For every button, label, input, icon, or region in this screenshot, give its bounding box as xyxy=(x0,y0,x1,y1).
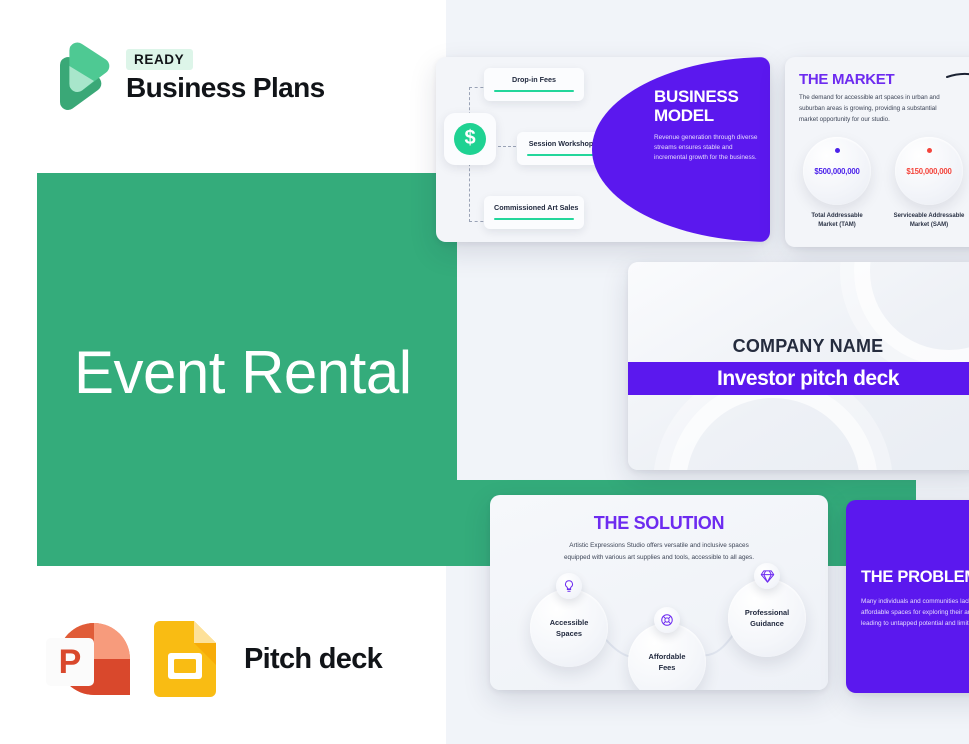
slide-cover[interactable]: COMPANY NAME Investor pitch deck xyxy=(628,262,969,470)
revenue-chip-drop-in-fees[interactable]: Drop-in Fees xyxy=(484,68,584,101)
label-line-2: Spaces xyxy=(556,629,582,638)
lightbulb-icon xyxy=(556,573,582,599)
revenue-chip-label: Commissioned Art Sales xyxy=(494,203,574,212)
ready-badge: READY xyxy=(126,49,193,70)
business-model-panel: BUSINESS MODEL Revenue generation throug… xyxy=(592,57,770,242)
chip-underline xyxy=(494,90,574,92)
caption-line-1: Serviceable Addressable xyxy=(881,212,969,221)
curved-arrow-icon xyxy=(945,71,969,113)
metric-dot xyxy=(835,148,840,153)
brand-lockup: READY Business Plans xyxy=(40,40,325,112)
revenue-chip-label: Drop-in Fees xyxy=(494,75,574,84)
caption-line-2: Market (TAM) xyxy=(789,221,885,230)
brand-name: Business Plans xyxy=(126,73,325,104)
slide-title-line-1: BUSINESS xyxy=(654,87,764,106)
file-formats-row: P Pitch deck xyxy=(44,620,382,698)
solution-node-professional-guidance: Professional Guidance xyxy=(728,579,806,657)
chip-underline xyxy=(527,154,599,156)
page-title: Event Rental xyxy=(74,341,412,404)
slide-title: THE MARKET xyxy=(799,71,894,88)
money-tile: $ xyxy=(444,113,496,165)
chip-underline xyxy=(494,218,574,220)
dollar-sign-icon: $ xyxy=(454,123,486,155)
revenue-chip-label: Session Workshops xyxy=(527,139,599,148)
label-line-2: Guidance xyxy=(750,619,784,628)
slide-title-line-2: MODEL xyxy=(654,106,764,125)
cover-title-band: Investor pitch deck xyxy=(628,362,969,395)
caption-line-2: Market (SAM) xyxy=(881,221,969,230)
slide-the-solution[interactable]: THE SOLUTION Artistic Expressions Studio… xyxy=(490,495,828,690)
label-line-1: Accessible xyxy=(550,618,589,627)
svg-text:P: P xyxy=(59,643,82,681)
slide-the-market[interactable]: THE MARKET The demand for accessible art… xyxy=(785,57,969,247)
market-metric-sam: $150,000,000 xyxy=(895,137,963,205)
slide-title: THE PROBLEM xyxy=(861,568,969,587)
slide-description: The demand for accessible art spaces in … xyxy=(799,93,949,126)
solution-node-label: Accessible Spaces xyxy=(550,617,589,639)
solution-node-label: Affordable Fees xyxy=(649,651,686,673)
market-metric-caption-tam: Total Addressable Market (TAM) xyxy=(789,212,885,229)
label-line-1: Affordable xyxy=(649,652,686,661)
market-metric-caption-sam: Serviceable Addressable Market (SAM) xyxy=(881,212,969,229)
company-name: COMPANY NAME xyxy=(628,336,969,357)
slide-business-model[interactable]: Drop-in Fees Session Workshops Commissio… xyxy=(436,57,770,242)
metric-value: $150,000,000 xyxy=(906,167,951,176)
microsoft-powerpoint-icon: P xyxy=(44,620,130,698)
diamond-icon xyxy=(754,563,780,589)
brand-text-block: READY Business Plans xyxy=(126,49,325,104)
metric-value: $500,000,000 xyxy=(814,167,859,176)
lifebuoy-icon xyxy=(654,607,680,633)
metric-dot xyxy=(927,148,932,153)
formats-label: Pitch deck xyxy=(244,643,382,676)
slide-the-problem[interactable]: THE PROBLEM Many individuals and communi… xyxy=(846,500,969,693)
revenue-chip-commissioned-art-sales[interactable]: Commissioned Art Sales xyxy=(484,196,584,229)
solution-node-accessible-spaces: Accessible Spaces xyxy=(530,589,608,667)
double-play-triangle-logo xyxy=(40,40,110,112)
solution-node-label: Professional Guidance xyxy=(745,607,789,629)
slide-title: BUSINESS MODEL xyxy=(654,87,764,125)
google-slides-icon xyxy=(154,621,216,697)
slide-description: Many individuals and communities lack ac… xyxy=(861,596,969,630)
cover-subtitle: Investor pitch deck xyxy=(717,367,899,391)
label-line-1: Professional xyxy=(745,608,789,617)
slide-description: Revenue generation through diverse strea… xyxy=(654,133,764,163)
market-metric-tam: $500,000,000 xyxy=(803,137,871,205)
caption-line-1: Total Addressable xyxy=(789,212,885,221)
label-line-2: Fees xyxy=(659,663,676,672)
